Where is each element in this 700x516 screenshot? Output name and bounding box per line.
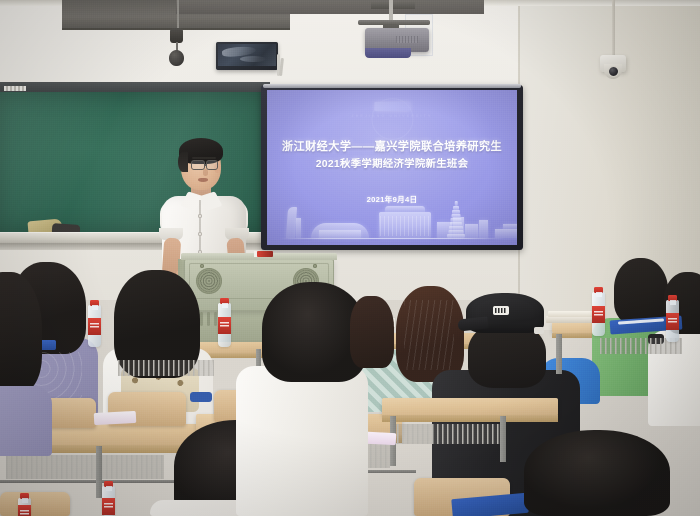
projector-ceiling-rail (371, 2, 415, 9)
under-desk-shelf-right (392, 424, 502, 444)
water-bottle-red-cap (18, 498, 31, 516)
eyeglasses-lens-right (206, 160, 218, 170)
presenter-eyebrows (192, 157, 216, 159)
paper-sheet (94, 411, 137, 425)
projector-vent (396, 36, 418, 43)
microphone-cable (177, 0, 179, 30)
camera-conduit (612, 0, 615, 56)
screen-vignette (267, 90, 517, 245)
cap-strap-tag (534, 327, 544, 334)
desk-leg (500, 416, 506, 462)
security-camera-icon (608, 66, 619, 77)
water-bottle-red-cap (102, 486, 115, 516)
podium-speaker-left (196, 268, 222, 294)
shirt-button (198, 214, 202, 218)
under-desk-shelf-left (6, 455, 164, 479)
projector-lens-housing (365, 48, 411, 58)
under-desk-shelf-back (118, 360, 214, 376)
window-valance-upper (176, 0, 484, 14)
presenter-hair-side (178, 152, 188, 172)
bag-strap-clip (190, 392, 212, 402)
microphone-head-icon (169, 50, 184, 66)
water-bottle-red-cap (592, 292, 605, 336)
desk-leg (556, 334, 562, 374)
presenter-nose (203, 169, 208, 176)
water-bottle-red-cap (666, 300, 679, 342)
projector-bracket-pole (389, 0, 393, 22)
display-top-highlight (263, 84, 521, 88)
monitor-reflection-secondary (240, 56, 266, 62)
presenter-mouth (198, 178, 208, 182)
podium-screw-right (313, 264, 317, 268)
chalk-eraser-icon (4, 86, 26, 91)
desk-front-right-edge (382, 415, 558, 422)
podium-sticker-red (257, 251, 273, 257)
presentation-display[interactable]: ZHEJIANG UNIVERSITY 浙江财经大学——嘉兴学院联合培养研究生 … (267, 90, 517, 245)
water-bottle-red-cap (88, 305, 101, 347)
podium-screw-left (200, 264, 204, 268)
classroom-photo: ZHEJIANG UNIVERSITY 浙江财经大学——嘉兴学院联合培养研究生 … (0, 0, 700, 516)
desk-front-right (382, 398, 558, 416)
water-bottle-red-cap (218, 303, 231, 347)
eyeglasses-bridge (204, 164, 207, 166)
microphone-body (170, 28, 183, 43)
shirt-button (198, 232, 202, 236)
chair-foreground-left (0, 492, 70, 516)
